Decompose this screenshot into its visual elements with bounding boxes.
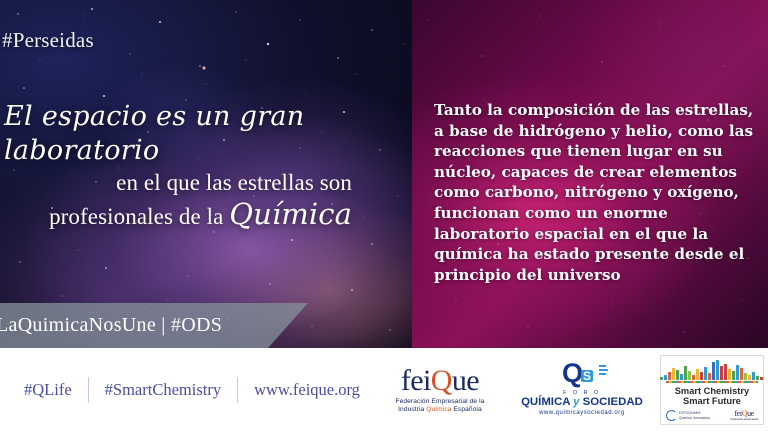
feique-word-pre: fei [401, 364, 431, 397]
smart-chemistry-logo[interactable]: Smart Chemistry Smart Future EXPOQUIMIA … [660, 355, 764, 425]
feique-tagline-post: Española [452, 406, 482, 413]
skyline-bar [688, 371, 691, 380]
expoquimia-text: EXPOQUIMIA Química, Innovación [679, 411, 710, 419]
skyline-bar [712, 362, 715, 380]
skyline-bar [740, 368, 743, 380]
skyline-bar [752, 372, 755, 380]
foro-qs-mark-icon: Q S [562, 363, 602, 389]
feique-small-pre: fei [734, 409, 741, 418]
smart-title-line2: Smart Future [683, 396, 741, 407]
skyline-bar-chart [660, 360, 763, 380]
footer-bar: #QLife #SmartChemistry www.feique.org fe… [0, 348, 768, 432]
hashtag-banner: LaQuimicaNosUne | #ODS [0, 303, 308, 348]
feique-logo[interactable]: feiQue Federación Empresarial de la Indu… [376, 366, 504, 415]
skyline-bar [720, 366, 723, 380]
right-magenta-panel: Tanto la composición de las estrellas, a… [412, 0, 768, 348]
foro-name-post: SOCIEDAD [580, 396, 643, 408]
skyline-baseline [666, 381, 758, 383]
skyline-bar [708, 373, 711, 380]
skyline-bar [668, 372, 671, 380]
feique-wordmark: feiQue [401, 366, 479, 396]
skyline-bar [700, 372, 703, 380]
skyline-bar [736, 365, 739, 380]
feique-tagline-line1: Federación Empresarial de la [395, 398, 484, 406]
skyline-bar [724, 364, 727, 380]
foro-name: QUÍMICA y SOCIEDAD [521, 396, 643, 409]
foro-mark-q: Q [562, 360, 583, 387]
skyline-bar [744, 373, 747, 380]
skyline-bar [704, 367, 707, 380]
poster-stage: #Perseidas El espacio es un gran laborat… [0, 0, 768, 432]
hero-space-background: #Perseidas El espacio es un gran laborat… [0, 0, 768, 348]
expoquimia-line2: Química, Innovación [679, 416, 710, 420]
expoquimia-ring-icon [666, 410, 677, 421]
hashtag-banner-text: LaQuimicaNosUne | #ODS [0, 314, 222, 337]
skyline-bar [660, 377, 663, 380]
footer-link-smartchemistry[interactable]: #SmartChemistry [89, 380, 237, 400]
smart-sublogos: EXPOQUIMIA Química, Innovación feiQue Fe… [666, 410, 758, 421]
foro-mark-dash-icon [599, 365, 606, 367]
skyline-bar [748, 375, 751, 380]
foro-mark-dash-icon [599, 373, 606, 375]
feique-word-q: Q [431, 364, 452, 397]
quote-line-1: El espacio es un gran laboratorio [0, 100, 400, 168]
footer-links: #QLife #SmartChemistry www.feique.org [0, 348, 376, 432]
skyline-bar [732, 371, 735, 380]
body-paragraph: Tanto la composición de las estrellas, a… [434, 100, 764, 285]
skyline-bar [696, 369, 699, 380]
skyline-bar [664, 375, 667, 380]
feique-tagline-line2: Industria Química Española [395, 406, 484, 414]
foro-name-pre: QUÍMICA [521, 396, 573, 408]
foro-mark-dash-icon [599, 369, 608, 371]
foro-mark-s: S [581, 370, 593, 382]
footer-link-qlife[interactable]: #QLife [8, 380, 88, 400]
feique-small-sub: Federación Empresarial [730, 418, 758, 421]
feique-tagline-quimica: Química [426, 406, 451, 413]
skyline-bar [684, 366, 687, 380]
quote-emphasis-quimica: Química [229, 197, 352, 231]
skyline-bar [676, 370, 679, 380]
feique-small-post: ue [747, 409, 754, 418]
skyline-bar [672, 368, 675, 380]
foro-quimica-sociedad-logo[interactable]: Q S F O R O QUÍMICA y SOCIEDAD www.quimi… [520, 363, 644, 416]
feique-tagline: Federación Empresarial de la Industria Q… [395, 398, 484, 415]
quote-block: El espacio es un gran laboratorio en el … [0, 100, 400, 233]
feique-tagline-pre: Industria [398, 406, 426, 413]
quote-line-3: profesionales de la Química [0, 198, 400, 233]
feique-small-logo[interactable]: feiQue Federación Empresarial [730, 410, 758, 421]
skyline-bar [760, 377, 763, 380]
quote-line-2: en el que las estrellas son [0, 168, 400, 198]
hashtag-perseidas: #Perseidas [2, 28, 94, 53]
skyline-bar [680, 374, 683, 380]
expoquimia-logo[interactable]: EXPOQUIMIA Química, Innovación [666, 410, 710, 421]
footer-logos: feiQue Federación Empresarial de la Indu… [376, 355, 768, 425]
feique-small-wordmark: feiQue [734, 410, 753, 418]
smart-title-line1: Smart Chemistry [675, 386, 749, 397]
skyline-bar [756, 376, 759, 380]
feique-word-post: ue [452, 364, 479, 397]
foro-url[interactable]: www.quimicaysociedad.org [539, 410, 625, 416]
footer-link-website[interactable]: www.feique.org [238, 380, 376, 400]
skyline-bar [728, 369, 731, 380]
quote-line-3-prefix: profesionales de la [49, 204, 229, 229]
skyline-bar [692, 375, 695, 380]
skyline-bar [716, 360, 719, 380]
